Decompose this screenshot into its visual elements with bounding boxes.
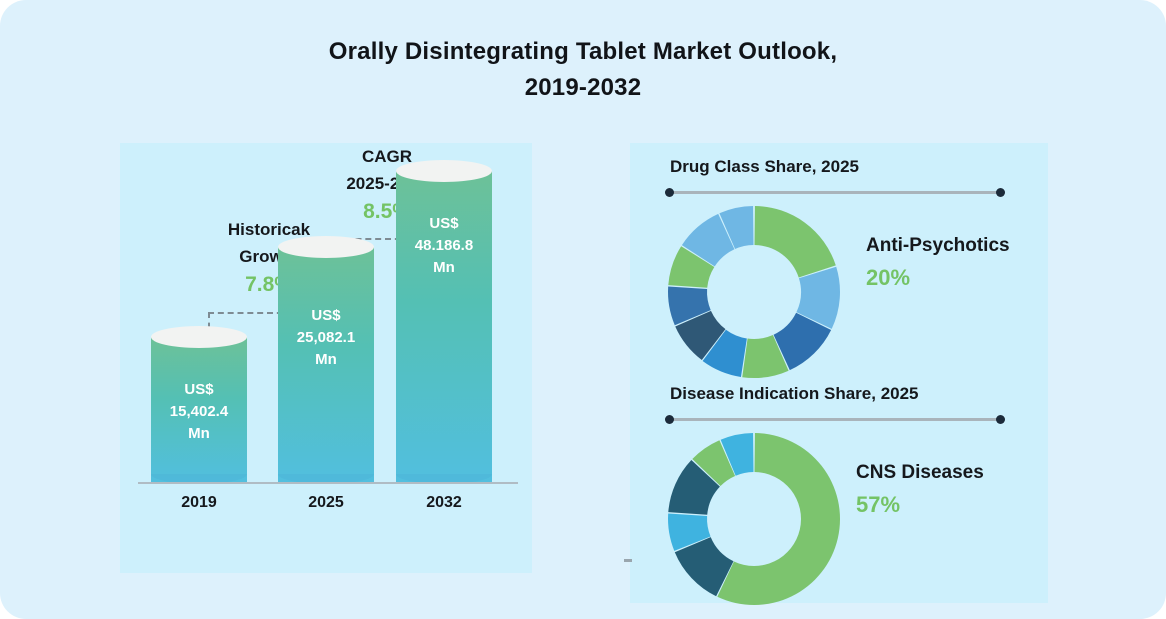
infographic-root: Orally Disintegrating Tablet Market Outl… (0, 0, 1166, 619)
bar-2025-value-amount: 25,082.1 (278, 327, 374, 349)
bar-2019[interactable]: US$ 15,402.4 Mn (151, 337, 247, 483)
bar-2025-top-cap (278, 236, 374, 258)
donut-chart-disease-indication: Disease Indication Share, 2025 (630, 375, 1048, 605)
bar-2019-body: US$ 15,402.4 Mn (151, 337, 247, 483)
donut-2-rule (665, 415, 1005, 424)
donut-2-rule-line (665, 418, 1005, 421)
bar-2019-value-unit: Mn (151, 423, 247, 445)
donut-2-rule-dot-right (996, 415, 1005, 424)
bar-2025-value-unit: Mn (278, 349, 374, 371)
donut-2-legend-value: 57% (856, 488, 984, 522)
donut-2-legend-name: CNS Diseases (856, 458, 984, 488)
bar-2032[interactable]: US$ 48.186.8 Mn (396, 171, 492, 483)
donut-1-rule-dot-left (665, 188, 674, 197)
donut-1-legend-value: 20% (866, 261, 1010, 295)
donut-1-rule (665, 188, 1005, 197)
bar-2025[interactable]: US$ 25,082.1 Mn (278, 247, 374, 483)
title-line-1: Orally Disintegrating Tablet Market Outl… (0, 34, 1166, 70)
page-title: Orally Disintegrating Tablet Market Outl… (0, 34, 1166, 106)
bar-chart-axis (138, 482, 518, 484)
donut-1-heading: Drug Class Share, 2025 (670, 157, 859, 177)
donut-2-rule-dot-left (665, 415, 674, 424)
bar-year-2019: 2019 (151, 494, 247, 512)
title-line-2: 2019-2032 (0, 70, 1166, 106)
donut-1-legend-name: Anti-Psychotics (866, 231, 1010, 261)
bar-2032-value-currency: US$ (396, 213, 492, 235)
donut-2-legend: CNS Diseases 57% (856, 458, 984, 522)
bar-2019-value-currency: US$ (151, 379, 247, 401)
bar-2025-body: US$ 25,082.1 Mn (278, 247, 374, 483)
bar-2032-body: US$ 48.186.8 Mn (396, 171, 492, 483)
bar-2025-value-currency: US$ (278, 305, 374, 327)
donut-1-rule-line (665, 191, 1005, 194)
bar-2032-value-unit: Mn (396, 257, 492, 279)
bar-chart: Historicak Growth 7.8% CAGR 2025-2032 8.… (120, 143, 532, 573)
bar-2032-value-amount: 48.186.8 (396, 235, 492, 257)
donut-1-svg (663, 201, 845, 383)
donut-1-legend: Anti-Psychotics 20% (866, 231, 1010, 295)
bar-year-2032: 2032 (396, 494, 492, 512)
donut-2-heading: Disease Indication Share, 2025 (670, 384, 919, 404)
bar-2019-top-cap (151, 326, 247, 348)
bar-2019-value-amount: 15,402.4 (151, 401, 247, 423)
bar-year-2025: 2025 (278, 494, 374, 512)
donut-1-segment-1 (755, 206, 836, 277)
bar-2032-top-cap (396, 160, 492, 182)
donut-chart-drug-class: Drug Class Share, 2025 (630, 143, 1048, 373)
donut-2-svg (663, 428, 845, 610)
donut-1-rule-dot-right (996, 188, 1005, 197)
